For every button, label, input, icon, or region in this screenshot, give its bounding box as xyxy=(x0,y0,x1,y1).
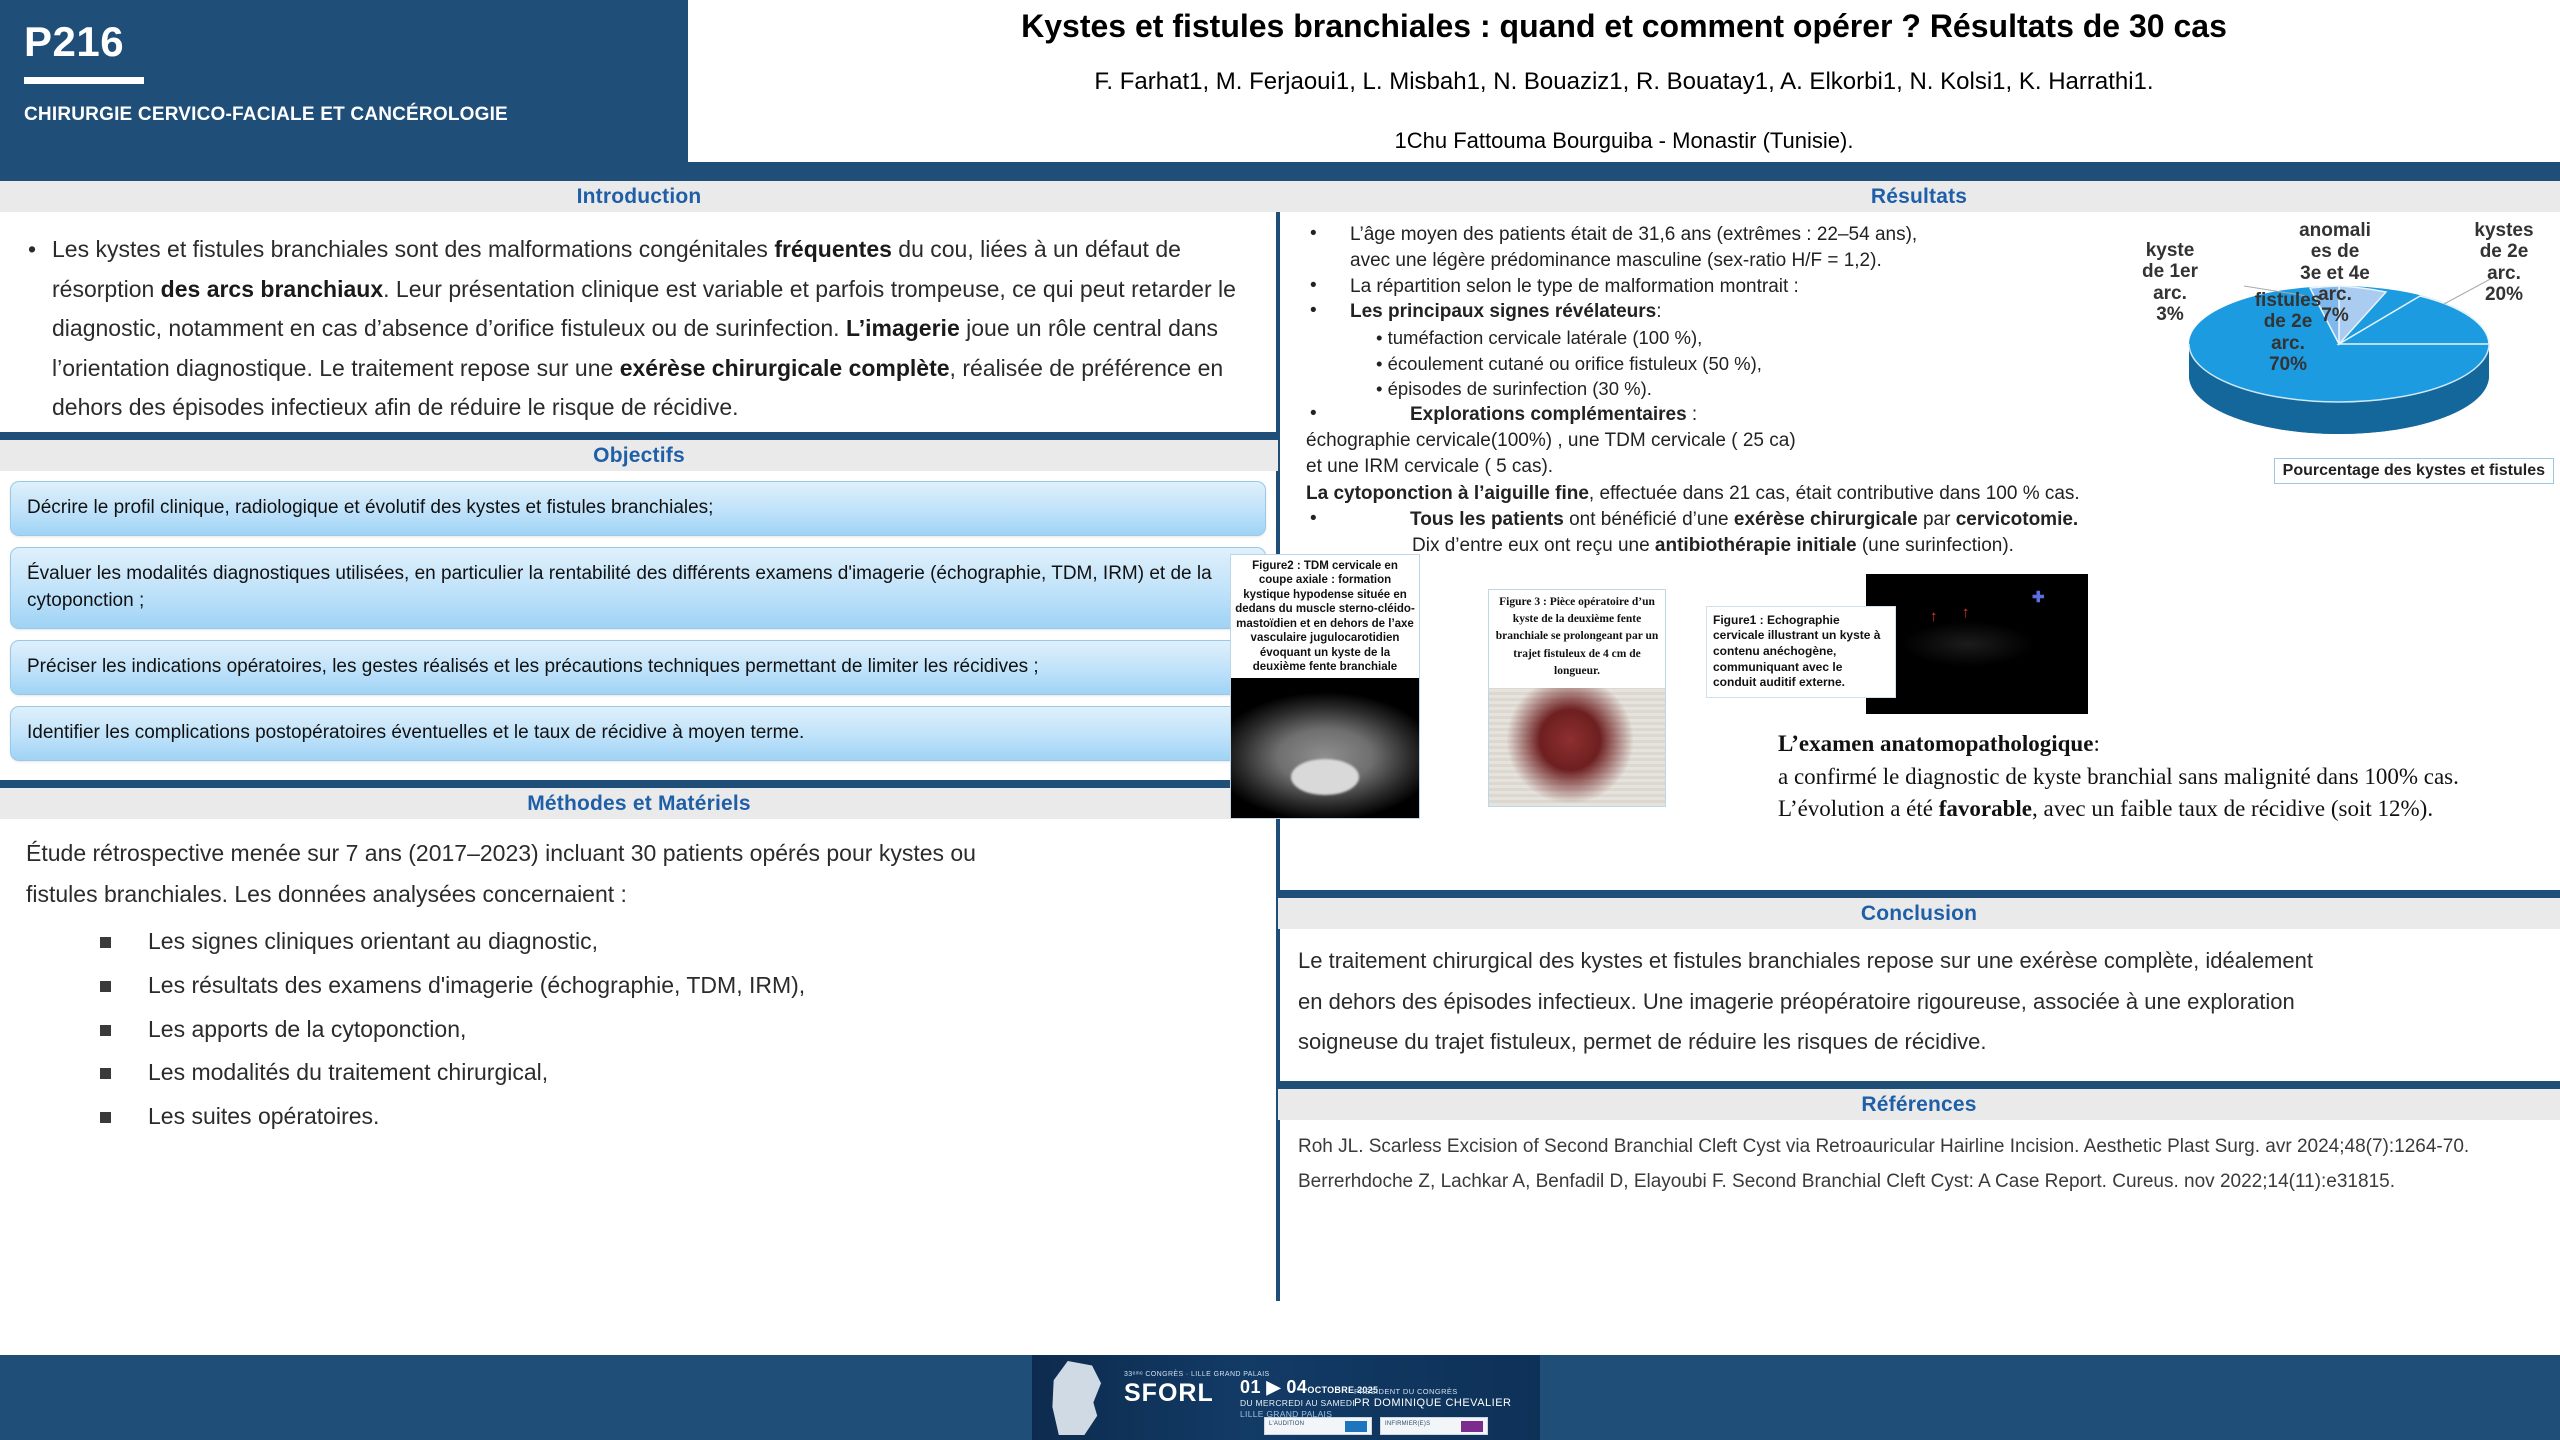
result-age-line-2: avec une légère prédominance masculine (… xyxy=(1350,250,1882,271)
affiliation-line: 1Chu Fattouma Bourguiba - Monastir (Tuni… xyxy=(688,128,2560,154)
anapath-line-2: a confirmé le diagnostic de kyste branch… xyxy=(1778,761,2526,794)
anapath-l3-bold: favorable xyxy=(1939,796,2032,821)
ultrasound-marker-blue-icon: ✚ xyxy=(2032,588,2045,606)
pie-label-line: arc. xyxy=(2130,283,2210,304)
section-bar xyxy=(1278,890,2560,898)
section-bar xyxy=(0,173,1278,181)
intro-t1: Les kystes et fistules branchiales sont … xyxy=(52,236,774,262)
pie-label-line: kyste xyxy=(2130,240,2210,261)
conclusion-line-3: soigneuse du trajet fistuleux, permet de… xyxy=(1298,1022,2538,1063)
section-bar xyxy=(1278,173,2560,181)
objective-item: Identifier les complications postopérato… xyxy=(10,706,1266,761)
conclusion-line-1: Le traitement chirurgical des kystes et … xyxy=(1298,941,2538,982)
antibio-tail: (une surinfection). xyxy=(1857,535,2014,556)
conclusion-body: Le traitement chirurgical des kystes et … xyxy=(1278,929,2560,1063)
congress-dates-sub: DU MERCREDI AU SAMEDI xyxy=(1240,1398,1355,1408)
intro-b3: L’imagerie xyxy=(846,315,960,341)
department-label: CHIRURGIE CERVICO-FACIALE ET CANCÉROLOGI… xyxy=(24,104,508,126)
antibiotherapie-line: Dix d’entre eux ont reçu une antibiothér… xyxy=(1292,533,2546,560)
figure-1-image: ↑ ↑ ✚ xyxy=(1866,574,2088,714)
pie-chart: kyste de 1er arc. 3% anomali es de 3e et… xyxy=(2124,226,2554,456)
chip-audition-badge-icon xyxy=(1345,1421,1367,1432)
pie-label-value: 70% xyxy=(2242,354,2334,375)
chir-bold-2: exérèse chirurgicale xyxy=(1734,509,1918,530)
result-bullet-age: L’âge moyen des patients était de 31,6 a… xyxy=(1292,222,2122,274)
section-header-conclusion: Conclusion xyxy=(1278,898,2560,929)
figure-3-caption: Figure 3 : Pièce opératoire d’un kyste d… xyxy=(1489,590,1665,684)
introduction-body: Les kystes et fistules branchiales sont … xyxy=(0,212,1278,436)
section-title-methodes: Méthodes et Matériels xyxy=(0,788,1278,819)
left-column: Introduction Les kystes et fistules bran… xyxy=(0,181,1278,1145)
chir-bold-1: Tous les patients xyxy=(1410,509,1564,530)
pie-label-value: 20% xyxy=(2460,284,2548,305)
pie-label-line: es de xyxy=(2292,241,2378,262)
figure-1-caption: Figure1 : Echographie cervicale illustra… xyxy=(1707,607,1895,697)
figure-2-image xyxy=(1231,678,1419,818)
intro-b4: exérèse chirurgicale complète xyxy=(620,355,950,381)
resultats-body: kyste de 1er arc. 3% anomali es de 3e et… xyxy=(1278,212,2560,564)
intro-b2: des arcs branchiaux xyxy=(161,276,383,302)
section-title-introduction: Introduction xyxy=(0,181,1278,212)
pie-label-line: fistules xyxy=(2242,290,2334,311)
anapath-block: L’examen anatomopathologique: a confirmé… xyxy=(1756,722,2546,826)
list-item: Les résultats des examens d'imagerie (éc… xyxy=(100,964,1252,1008)
result-bullet-chirurgie: Tous les patients ont bénéficié d’une ex… xyxy=(1292,507,2192,533)
section-bar xyxy=(0,432,1278,440)
conclusion-line-2: en dehors des épisodes infectieux. Une i… xyxy=(1298,982,2538,1023)
figure-2-caption: Figure2 : TDM cervicale en coupe axiale … xyxy=(1231,555,1419,678)
section-header-objectifs: Objectifs xyxy=(0,440,1278,471)
introduction-paragraph: Les kystes et fistules branchiales sont … xyxy=(22,230,1252,428)
congress-banner: 33ᵉᵐᵉ CONGRÈS · LILLE GRAND PALAIS SFORL… xyxy=(1032,1355,1540,1440)
chir-mid-1: ont bénéficié d’une xyxy=(1564,509,1734,530)
authors-line: F. Farhat1, M. Ferjaoui1, L. Misbah1, N.… xyxy=(688,68,2560,96)
figures-row: Figure2 : TDM cervicale en coupe axiale … xyxy=(1278,564,2560,814)
chip-infirmieres-label: INFIRMIER(E)S xyxy=(1385,1421,1430,1427)
resultats-list: L’âge moyen des patients était de 31,6 a… xyxy=(1292,222,2122,325)
anapath-l3-tail: , avec un faible taux de récidive (soit … xyxy=(2032,796,2433,821)
header-main: Kystes et fistules branchiales : quand e… xyxy=(688,0,2560,162)
methodes-list: Les signes cliniques orientant au diagno… xyxy=(100,920,1252,1138)
pie-label-line: de 2e xyxy=(2242,311,2334,332)
antibio-pre: Dix d’entre eux ont reçu une xyxy=(1412,535,1655,556)
chir-mid-2: par xyxy=(1918,509,1956,530)
chip-infirmieres-badge-icon xyxy=(1461,1421,1483,1432)
objective-item: Préciser les indications opératoires, le… xyxy=(10,640,1266,695)
right-column: Résultats xyxy=(1278,181,2560,1200)
cytoponction-bold: La cytoponction à l’aiguille fine xyxy=(1306,483,1589,504)
pie-label-kystes-2e: kystes de 2e arc. 20% xyxy=(2460,220,2548,305)
pie-label-line: 3e et 4e xyxy=(2292,263,2378,284)
objectifs-body: Décrire le profil clinique, radiologique… xyxy=(0,471,1278,778)
section-header-resultats: Résultats xyxy=(1278,181,2560,212)
ultrasound-marker-red-icon: ↑ xyxy=(1962,604,1970,621)
list-item: Les suites opératoires. xyxy=(100,1095,1252,1139)
intro-b1: fréquentes xyxy=(774,236,892,262)
introduction-list: Les kystes et fistules branchiales sont … xyxy=(22,230,1252,428)
figure-1-caption-box: Figure1 : Echographie cervicale illustra… xyxy=(1706,606,1896,698)
result-bullet-signes: Les principaux signes révélateurs: xyxy=(1292,299,2122,325)
result-age-line-1: L’âge moyen des patients était de 31,6 a… xyxy=(1350,224,1917,245)
figure-3-image xyxy=(1489,688,1665,806)
section-header-methodes: Méthodes et Matériels xyxy=(0,788,1278,819)
result-signes-tail: : xyxy=(1656,301,1661,322)
section-title-resultats: Résultats xyxy=(1278,181,2560,212)
objective-item: Décrire le profil clinique, radiologique… xyxy=(10,481,1266,536)
congress-dates-range: 01 ▶ 04 xyxy=(1240,1377,1307,1397)
section-title-references: Références xyxy=(1278,1089,2560,1120)
reference-item: Berrerhdoche Z, Lachkar A, Benfadil D, E… xyxy=(1298,1165,2538,1200)
poster-number: P216 xyxy=(24,18,124,66)
anapath-l3-pre: L’évolution a été xyxy=(1778,796,1939,821)
pie-label-kyste-1er: kyste de 1er arc. 3% xyxy=(2130,240,2210,325)
pie-label-line: kystes xyxy=(2460,220,2548,241)
pie-label-fistules-2e: fistules de 2e arc. 70% xyxy=(2242,290,2334,375)
congress-president-name: PR DOMINIQUE CHEVALIER xyxy=(1354,1397,1512,1409)
section-title-conclusion: Conclusion xyxy=(1278,898,2560,929)
pie-label-line: arc. xyxy=(2242,333,2334,354)
methodes-body: Étude rétrospective menée sur 7 ans (201… xyxy=(0,819,1278,1145)
references-body: Roh JL. Scarless Excision of Second Bran… xyxy=(1278,1120,2560,1200)
congress-chip-audition: L'AUDITION xyxy=(1264,1417,1372,1435)
congress-president-label: PRÉSIDENT DU CONGRÈS xyxy=(1354,1387,1458,1396)
reference-item: Roh JL. Scarless Excision of Second Bran… xyxy=(1298,1130,2538,1165)
resultats-list-chirurgie: Tous les patients ont bénéficié d’une ex… xyxy=(1292,507,2192,533)
pie-label-line: arc. xyxy=(2460,263,2548,284)
methodes-intro-line-1: Étude rétrospective menée sur 7 ans (201… xyxy=(26,833,1252,875)
congress-face-icon xyxy=(1046,1361,1110,1435)
result-bullet-repartition: La répartition selon le type de malforma… xyxy=(1292,274,2122,300)
congress-chip-infirmieres: INFIRMIER(E)S xyxy=(1380,1417,1488,1435)
list-item: Les modalités du traitement chirurgical, xyxy=(100,1051,1252,1095)
explorations-tail: : xyxy=(1687,404,1698,425)
header-rule xyxy=(24,77,144,84)
figure-2: Figure2 : TDM cervicale en coupe axiale … xyxy=(1230,554,1420,819)
chart-caption: Pourcentage des kystes et fistules xyxy=(2274,458,2554,484)
figure-3: Figure 3 : Pièce opératoire d’un kyste d… xyxy=(1488,589,1666,807)
result-signes-bold: Les principaux signes révélateurs xyxy=(1350,301,1656,322)
antibio-bold: antibiothérapie initiale xyxy=(1655,535,1857,556)
section-header-references: Références xyxy=(1278,1089,2560,1120)
section-title-objectifs: Objectifs xyxy=(0,440,1278,471)
figure-1-image-wrap: ↑ ↑ ✚ xyxy=(1866,574,2088,714)
methodes-intro-line-2: fistules branchiales. Les données analys… xyxy=(26,874,1252,916)
pie-label-line: de 1er xyxy=(2130,261,2210,282)
anapath-tail: : xyxy=(2093,731,2099,756)
header-strip xyxy=(0,162,2560,173)
anapath-line-1: L’examen anatomopathologique: xyxy=(1778,728,2526,761)
pie-label-line: anomali xyxy=(2292,220,2378,241)
pie-label-line: de 2e xyxy=(2460,241,2548,262)
cytoponction-tail: , effectuée dans 21 cas, était contribut… xyxy=(1589,483,2080,504)
result-bullet-explorations: Explorations complémentaires : xyxy=(1292,402,2122,428)
objective-item: Évaluer les modalités diagnostiques util… xyxy=(10,547,1266,629)
section-bar xyxy=(0,780,1278,788)
anapath-bold: L’examen anatomopathologique xyxy=(1778,731,2093,756)
list-item: Les apports de la cytoponction, xyxy=(100,1008,1252,1052)
chir-bold-3: cervicotomie. xyxy=(1956,509,2079,530)
anapath-line-3: L’évolution a été favorable, avec un fai… xyxy=(1778,793,2526,826)
list-item: Les signes cliniques orientant au diagno… xyxy=(100,920,1252,964)
pie-label-value: 3% xyxy=(2130,304,2210,325)
ultrasound-marker-red-icon: ↑ xyxy=(1930,608,1938,625)
cytoponction-line: La cytoponction à l’aiguille fine, effec… xyxy=(1292,481,2546,508)
explorations-bold: Explorations complémentaires xyxy=(1410,404,1687,425)
resultats-list-explorations: Explorations complémentaires : xyxy=(1292,402,2122,428)
section-header-introduction: Introduction xyxy=(0,181,1278,212)
chip-audition-label: L'AUDITION xyxy=(1269,1421,1304,1427)
poster-id-block: P216 CHIRURGIE CERVICO-FACIALE ET CANCÉR… xyxy=(0,0,688,162)
poster-root: P216 CHIRURGIE CERVICO-FACIALE ET CANCÉR… xyxy=(0,0,2560,1440)
section-bar xyxy=(1278,1081,2560,1089)
page-title: Kystes et fistules branchiales : quand e… xyxy=(688,8,2560,45)
congress-logo: SFORL xyxy=(1124,1379,1214,1408)
